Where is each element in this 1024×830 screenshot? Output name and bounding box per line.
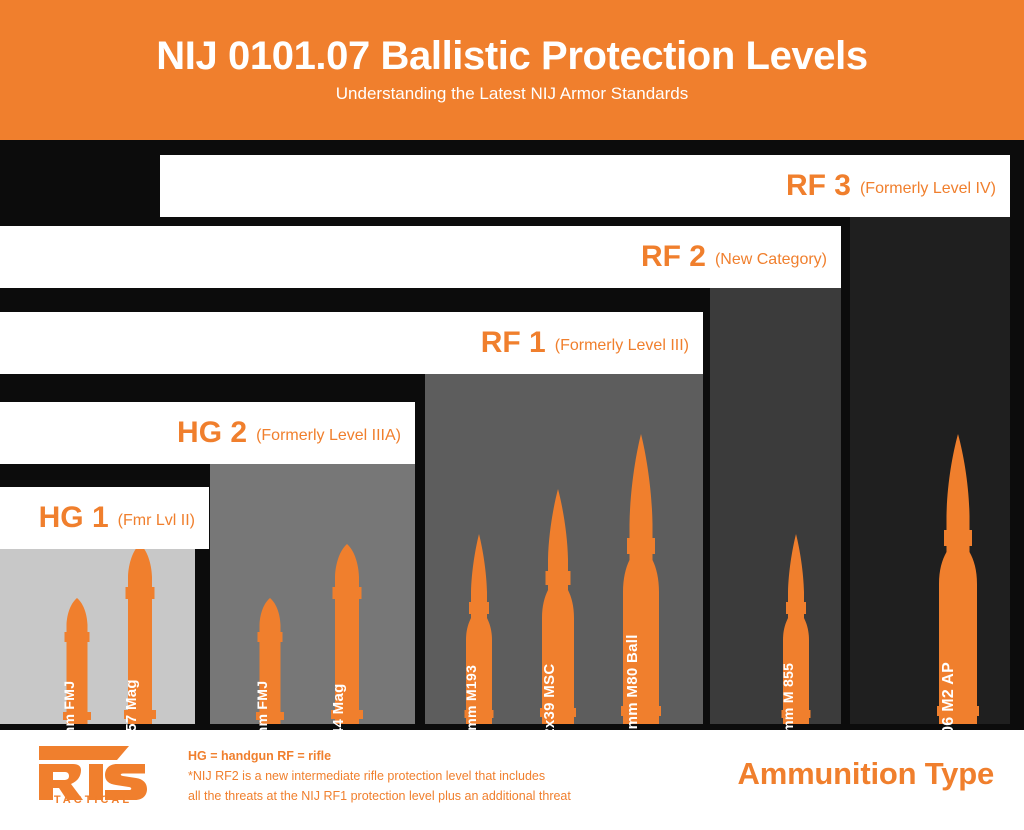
level-label-rf2: RF 2 (New Category) [0,226,841,288]
bullet-7-62x51mm-m80-ball: 7.62x51mm M80 Ball [614,434,668,724]
level-note-rf1: (Formerly Level III) [555,338,689,354]
header-banner: NIJ 0101.07 Ballistic Protection Levels … [0,0,1024,140]
level-column-rf1: 5.56mm M193 7.62x39 MSC 7.62x51mm M80 Ba… [425,312,703,724]
legend-note-line2: all the threats at the NIJ RF1 protectio… [188,786,571,806]
bullet-5-56mm-m193: 5.56mm M193 [459,534,499,724]
level-note-hg2: (Formerly Level IIIA) [256,428,401,444]
level-note-rf3: (Formerly Level IV) [860,181,996,197]
level-label-hg1: HG 1 (Fmr Lvl II) [0,487,209,549]
level-note-hg1: (Fmr Lvl II) [118,513,195,529]
legend-note-line1: *NIJ RF2 is a new intermediate rifle pro… [188,766,571,786]
level-label-rf3: RF 3 (Formerly Level IV) [160,155,1010,217]
legend-key: HG = handgun RF = rifle [188,746,571,766]
level-code-hg1: HG 1 [39,503,109,533]
bullet-44-mag: .44 Mag [325,544,369,724]
bullet-30-06-m2-ap: 30.06 M2 AP [930,434,986,724]
page-subtitle: Understanding the Latest NIJ Armor Stand… [336,84,688,104]
bullet-7-62x39-msc: 7.62x39 MSC [534,489,582,724]
level-code-rf3: RF 3 [786,171,851,201]
page-title: NIJ 0101.07 Ballistic Protection Levels [156,36,867,76]
footer: TACTICAL HG = handgun RF = rifle *NIJ RF… [0,730,1024,830]
level-label-hg2: HG 2 (Formerly Level IIIA) [0,402,415,464]
level-code-hg2: HG 2 [177,418,247,448]
axis-label-ammunition-type: Ammunition Type [738,756,994,792]
logo-subtitle: TACTICAL [33,794,153,806]
bullet-9mm-fmj-hg1: 9mm FMJ [58,598,96,724]
level-column-rf2: 5.56mm M 855 RF 2 (New Category) [710,226,841,724]
level-note-rf2: (New Category) [715,252,827,268]
level-column-hg1: 9mm FMJ .357 Mag HG 1 (Fmr Lvl II) [0,487,195,724]
legend-block: HG = handgun RF = rifle *NIJ RF2 is a ne… [188,746,571,806]
level-label-rf1: RF 1 (Formerly Level III) [0,312,703,374]
bullet-9mm-fmj-hg2: 9mm FMJ [251,598,289,724]
level-code-rf1: RF 1 [481,328,546,358]
level-column-hg2: 9mm FMJ .44 Mag HG 2 (Formerly Level III… [210,402,415,724]
level-code-rf2: RF 2 [641,242,706,272]
bullet-5-56mm-m855: 5.56mm M 855 [776,534,816,724]
chart-stage: 30.06 M2 AP RF 3 (Formerly Level IV) 5.5… [0,140,1024,730]
bullet-357-mag: .357 Mag [118,544,162,724]
level-column-rf3: 30.06 M2 AP RF 3 (Formerly Level IV) [850,155,1010,724]
